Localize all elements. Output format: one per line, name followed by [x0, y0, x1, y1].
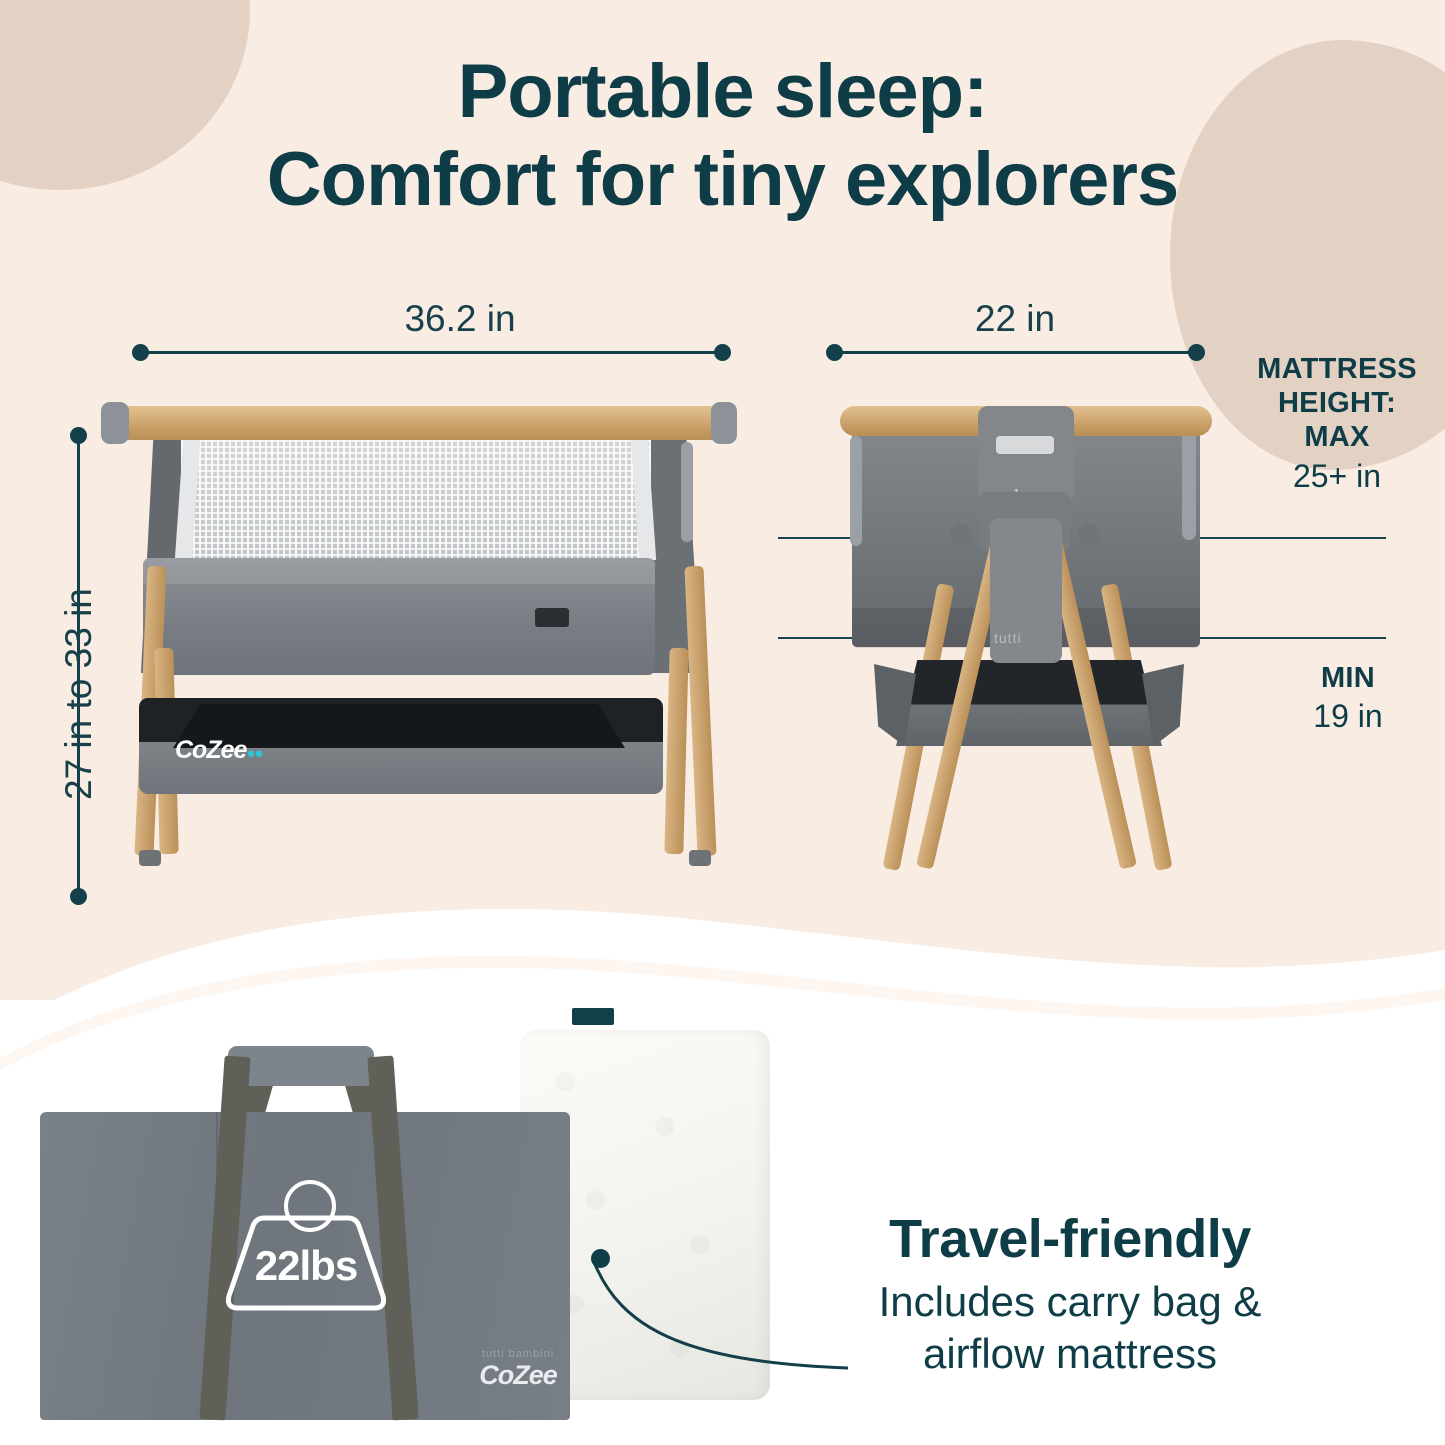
bassinet-front-view: CoZee●● — [95, 398, 755, 898]
bassinet-cozee-logo: CoZee●● — [175, 736, 263, 765]
page-title-line2: Comfort for tiny explorers — [0, 136, 1445, 224]
dimension-endpoint-top-height — [70, 427, 87, 444]
dimension-endpoint-left-front — [132, 344, 149, 361]
bassinet-leg-front-right — [684, 566, 716, 857]
travel-leader-dot — [591, 1249, 610, 1268]
carry-bag-weight-label: 22lbs — [226, 1242, 386, 1290]
page-title-line1: Portable sleep: — [458, 49, 988, 134]
mattress-height-title-line2: HEIGHT: — [1228, 386, 1445, 420]
bassinet-side-zipper-left — [850, 436, 862, 546]
infographic-canvas: Portable sleep: Comfort for tiny explore… — [0, 0, 1445, 1445]
travel-friendly-block: Travel-friendly Includes carry bag & air… — [790, 1208, 1350, 1380]
mattress-height-min-block: MIN 19 in — [1250, 660, 1445, 736]
bassinet-leg-rear-right — [664, 648, 688, 854]
leg-pivot-right — [1078, 524, 1100, 546]
mattress-height-max-value: 25+ in — [1228, 456, 1445, 496]
bassinet-body-highlight — [143, 558, 655, 584]
mattress-height-max-block: MATTRESS HEIGHT: MAX 25+ in — [1228, 352, 1445, 496]
bassinet-rail-cap-left — [101, 402, 129, 444]
bassinet-mesh-panel — [181, 440, 651, 562]
bassinet-zipper — [681, 442, 693, 542]
bassinet-brand-tag — [535, 608, 569, 627]
page-title: Portable sleep: Comfort for tiny explore… — [0, 48, 1445, 224]
travel-friendly-line2: airflow mattress — [790, 1328, 1350, 1380]
bassinet-foot-left — [139, 850, 161, 866]
dimension-label-width-front: 36.2 in — [210, 298, 710, 340]
mattress-height-min-label: MIN — [1250, 660, 1445, 696]
bassinet-side-storage-shelf — [896, 660, 1162, 746]
dimension-label-height: 27 in to 33 in — [58, 588, 100, 800]
bassinet-side-brand-text: tutti — [994, 630, 1022, 646]
bassinet-cozee-logo-text: CoZee — [175, 736, 246, 764]
carry-bag: 22lbs tutti bambini CoZee — [40, 1060, 570, 1420]
bassinet-rail-cap-right — [711, 402, 737, 444]
mattress-height-title-line1: MATTRESS — [1228, 352, 1445, 386]
leg-pivot-left — [950, 524, 972, 546]
travel-friendly-title: Travel-friendly — [790, 1208, 1350, 1270]
bassinet-side-view: 1 tutti — [830, 392, 1230, 902]
mattress-brand-tag — [572, 1008, 614, 1025]
height-adjust-handle-slot — [996, 436, 1054, 454]
dimension-endpoint-right-side — [1188, 344, 1205, 361]
carry-bag-brand-name-text: CoZee — [479, 1360, 557, 1390]
dimension-endpoint-left-side — [826, 344, 843, 361]
mattress-height-min-value: 19 in — [1250, 696, 1445, 736]
mattress-height-title-line3: MAX — [1228, 420, 1445, 454]
bassinet-foot-right — [689, 850, 711, 866]
bassinet-side-zipper-right — [1182, 420, 1196, 540]
dimension-line-width-side — [836, 351, 1196, 354]
travel-friendly-line1: Includes carry bag & — [790, 1276, 1350, 1328]
dimension-label-width-side: 22 in — [830, 298, 1200, 340]
dimension-line-width-front — [140, 351, 723, 354]
cozee-accent-dot: ●● — [246, 745, 262, 762]
dimension-endpoint-bottom-height — [70, 888, 87, 905]
dimension-endpoint-right-front — [714, 344, 731, 361]
height-adjust-mechanism-top — [978, 406, 1074, 502]
bassinet-wood-rail — [113, 406, 733, 440]
